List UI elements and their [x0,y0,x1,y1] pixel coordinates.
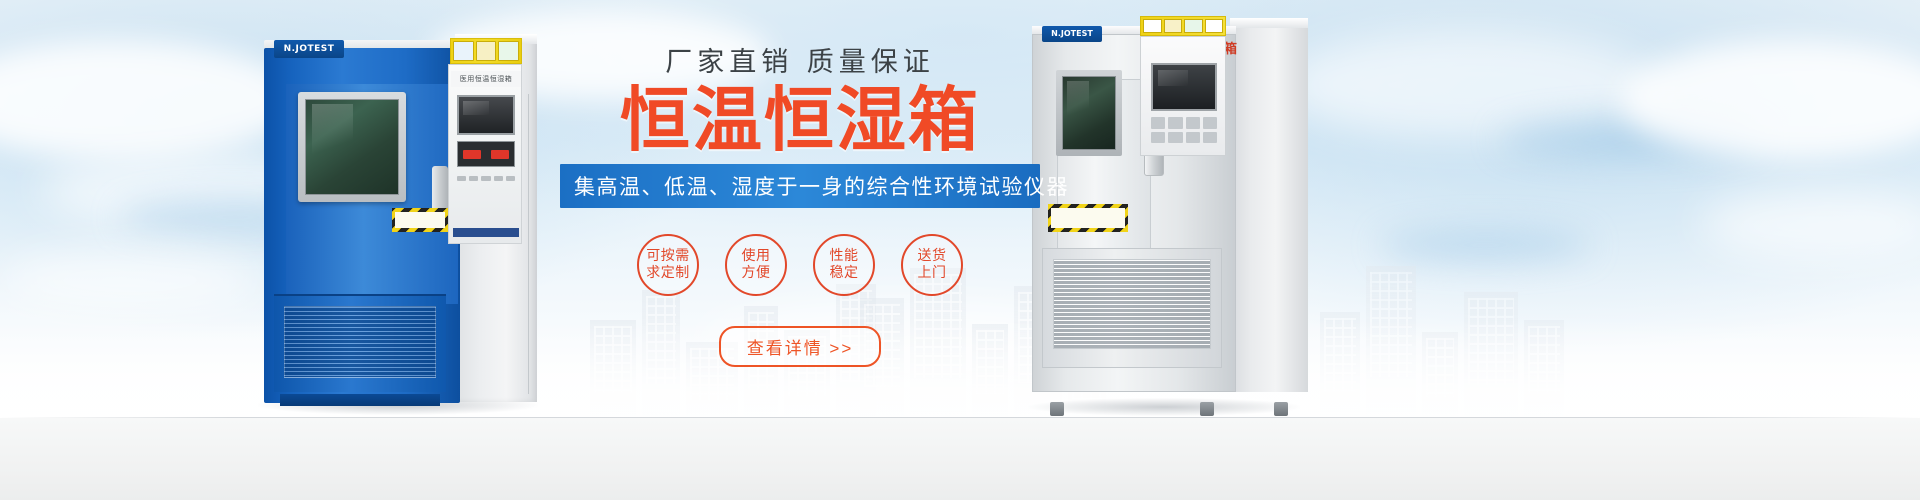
control-key-pad [1151,117,1217,143]
cabinet-seam [528,94,529,394]
badge-line-2: 求定制 [646,265,690,282]
banner-subtitle: 集高温、低温、湿度于一身的综合性环境试验仪器 [560,164,1040,208]
door-handle [432,166,448,214]
product-chamber-left: N.JOTEST 医用恒温恒湿箱 [252,30,537,405]
compressor-compartment [274,294,446,392]
caution-label [1048,204,1128,232]
feature-badge-list: 可按需 求定制 使用 方便 性能 稳定 送货 上门 [560,234,1040,296]
brand-plate: N.JOTEST [1042,26,1102,42]
chamber-base-plinth [280,394,440,406]
ventilation-grille [284,306,436,378]
floor-band [0,418,1920,500]
cabinet-top [1230,18,1308,28]
product-chamber-right: N.JOTEST 恒温恒湿箱 [1018,8,1308,408]
cta-container: 查看详情 >> [560,326,1040,367]
feature-badge: 性能 稳定 [813,234,875,296]
brand-plate: N.JOTEST [274,40,344,58]
badge-line-1: 性能 [830,248,859,265]
badge-line-1: 可按需 [646,248,690,265]
control-button-row [457,173,515,183]
caution-label [392,208,448,232]
feature-badge: 使用 方便 [725,234,787,296]
side-cabinet [1230,24,1308,392]
control-panel [1140,36,1226,156]
badge-line-2: 方便 [742,265,771,282]
warning-sticker-row [1140,16,1226,36]
badge-line-2: 稳定 [830,265,859,282]
badge-line-1: 使用 [742,248,771,265]
digital-readout [457,141,515,167]
badge-line-1: 送货 [918,248,947,265]
product-shadow [1028,398,1300,416]
controller-screen [1151,63,1217,111]
cloud-shape [0,250,260,310]
badge-line-2: 上门 [918,265,947,282]
view-details-button[interactable]: 查看详情 >> [719,326,882,367]
chamber-leg [1200,402,1214,416]
banner-tagline: 厂家直销 质量保证 [560,48,1040,78]
compressor-compartment [1042,248,1222,368]
feature-badge: 送货 上门 [901,234,963,296]
promo-banner: N.JOTEST 医用恒温恒湿箱 [0,0,1920,500]
controller-screen [457,95,515,135]
warning-sticker-row [450,38,522,64]
viewing-window-frame [298,92,406,202]
banner-headline: 恒温恒湿箱 [560,84,1040,157]
viewing-window-glass [305,99,399,195]
feature-badge: 可按需 求定制 [637,234,699,296]
viewing-window-frame [1056,70,1122,156]
viewing-window-glass [1062,76,1116,150]
control-panel: 医用恒温恒湿箱 [448,64,522,244]
banner-copy-block: 厂家直销 质量保证 恒温恒湿箱 集高温、低温、湿度于一身的综合性环境试验仪器 可… [560,48,1040,367]
chamber-leg [1050,402,1064,416]
manufacturer-plate [453,228,519,237]
ventilation-grille [1053,259,1211,349]
control-panel-label: 医用恒温恒湿箱 [451,71,521,87]
chamber-leg [1274,402,1288,416]
